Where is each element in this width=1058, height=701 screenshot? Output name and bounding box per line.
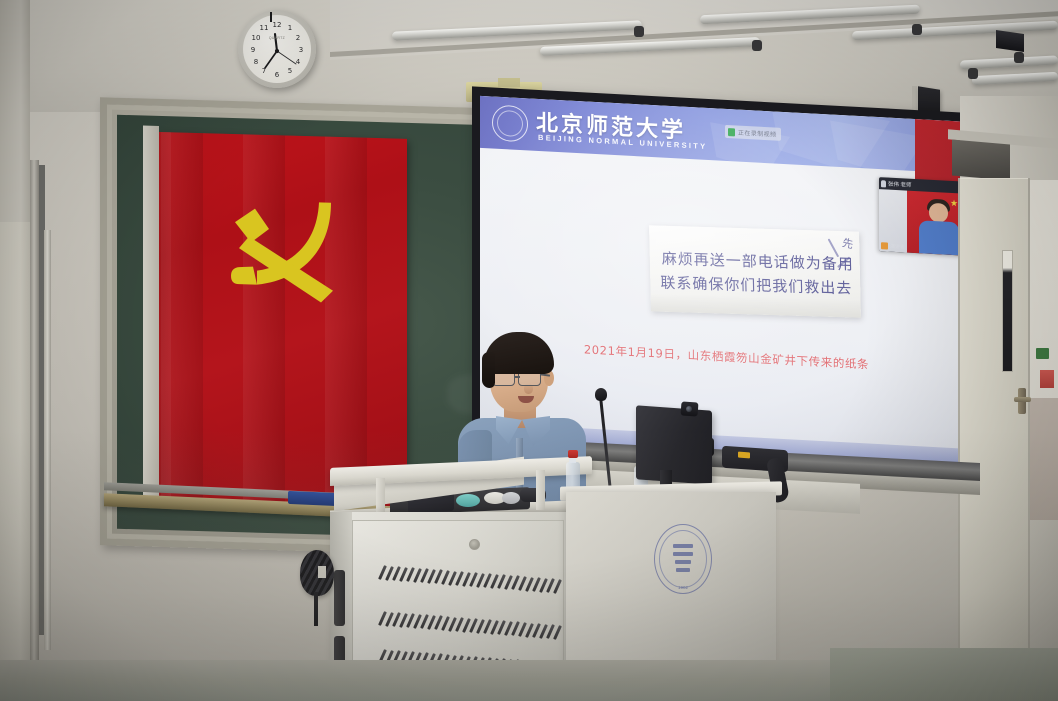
hammer-and-sickle-icon — [213, 191, 343, 307]
svg-text:5: 5 — [288, 67, 292, 75]
bnu-seal-icon — [492, 104, 528, 142]
webcam-lens — [686, 406, 692, 412]
lecture-hall-photo: 121 23 45 67 89 1011 QUARTZ — [0, 0, 1058, 701]
slide-caption: 2021年1月19日，山东栖霞笏山金矿井下传来的纸条 — [584, 341, 869, 372]
tile-name-row: 张伟 老师 — [881, 178, 912, 190]
tile-footer: 演讲者 — [879, 240, 907, 252]
tile-role-icon — [881, 242, 888, 249]
svg-text:11: 11 — [260, 24, 269, 32]
microphone-icon — [881, 180, 886, 187]
handwritten-note-photo: 麻烦再送一部电话做为备用 联系确保你们把我们救出去 先 — [649, 225, 861, 318]
svg-text:8: 8 — [254, 58, 258, 66]
svg-text:4: 4 — [296, 58, 301, 66]
recording-icon — [728, 128, 735, 136]
svg-text:1: 1 — [288, 24, 292, 32]
analog-wall-clock: 121 23 45 67 89 1011 QUARTZ — [238, 10, 316, 88]
fire-equipment-box — [1040, 370, 1054, 388]
note-handwriting-line-1: 麻烦再送一部电话做为备用 — [662, 248, 854, 275]
presenter-hair-side — [482, 352, 495, 388]
transom-window — [952, 139, 1010, 180]
door-vision-panel — [1002, 250, 1013, 372]
svg-text:6: 6 — [275, 71, 280, 79]
exit-sign — [1036, 348, 1049, 359]
eyeglasses-bridge — [514, 376, 520, 378]
lapel-boom-microphone — [595, 388, 607, 401]
ceiling-projector-mount — [996, 30, 1024, 52]
status-badge-label: 正在录制视频 — [738, 128, 776, 139]
tile-person-head — [929, 203, 948, 223]
tile-display-name: 张伟 老师 — [888, 180, 912, 189]
clock-brand-text: QUARTZ — [238, 36, 316, 40]
screen-mount-tab — [498, 78, 520, 87]
tile-footer-label: 演讲者 — [890, 243, 905, 251]
wall-shading — [0, 430, 1058, 701]
svg-text:3: 3 — [299, 46, 303, 54]
tile-person-body — [919, 220, 959, 255]
door-handle-bar[interactable] — [1014, 397, 1031, 402]
svg-text:9: 9 — [251, 46, 255, 54]
svg-text:12: 12 — [273, 21, 282, 29]
